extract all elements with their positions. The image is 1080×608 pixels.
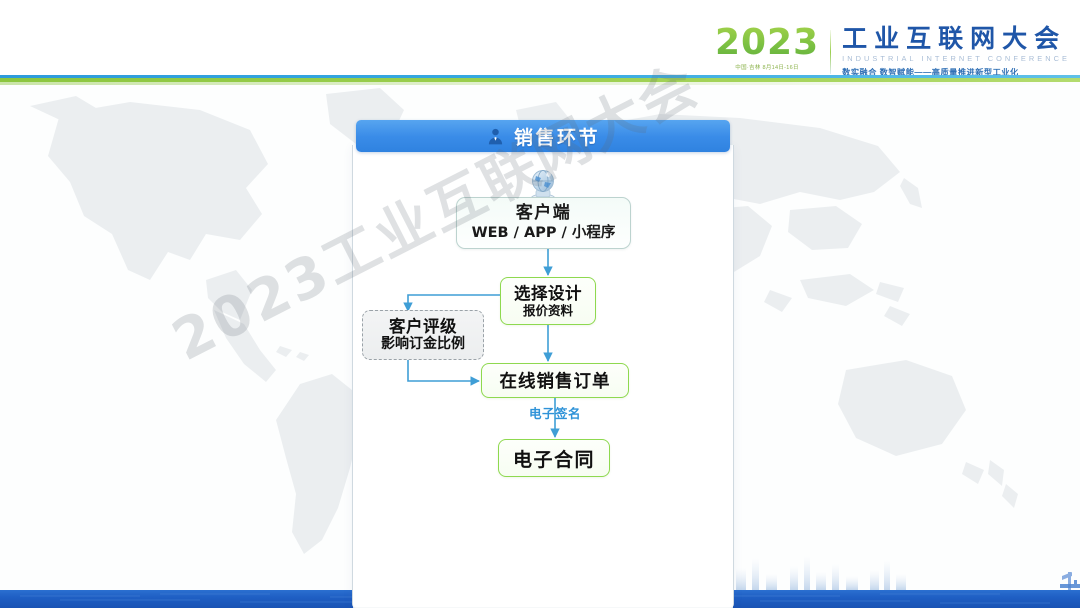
node-electronic-contract[interactable]: 电子合同 [498,439,610,477]
logo-title-block: 工业互联网大会 INDUSTRIAL INTERNET CONFERENCE 数… [831,26,1070,78]
conference-title-en: INDUSTRIAL INTERNET CONFERENCE [842,54,1070,63]
node-online-sales-order[interactable]: 在线销售订单 [481,363,629,398]
node-design-line1: 选择设计 [514,284,582,303]
node-customer-rating[interactable]: 客户评级 影响订金比例 [362,310,484,360]
panel-title-bar: 销售环节 [356,120,730,152]
node-select-design[interactable]: 选择设计 报价资料 [500,277,596,325]
edge-label-signature: 电子签名 [507,403,603,422]
node-rating-line1: 客户评级 [389,317,457,336]
logo-year-block: 2023 中国·吉林 8月14日-16日 [715,26,830,71]
node-order-line1: 在线销售订单 [500,368,611,393]
panel-title-text: 销售环节 [514,123,600,150]
node-client[interactable]: 客户端 WEB / APP / 小程序 [456,197,631,249]
node-client-line2: WEB / APP / 小程序 [472,224,616,242]
conference-title-cn: 工业互联网大会 [842,26,1070,52]
slide-canvas: 2023 中国·吉林 8月14日-16日 工业互联网大会 INDUSTRIAL … [0,0,1080,608]
node-client-line1: 客户端 [516,204,572,223]
conference-logo: 2023 中国·吉林 8月14日-16日 工业互联网大会 INDUSTRIAL … [715,26,1070,78]
person-icon [486,127,505,146]
node-contract-line1: 电子合同 [513,445,595,472]
node-design-line2: 报价资料 [523,303,573,318]
sales-process-diagram: 客户端 WEB / APP / 小程序 选择设计 报价资料 客户评级 影响订金比… [352,145,734,608]
logo-date-location: 中国·吉林 8月14日-16日 [715,63,819,71]
logo-year: 2023 [715,26,819,60]
slide-header: 2023 中国·吉林 8月14日-16日 工业互联网大会 INDUSTRIAL … [0,0,1080,76]
header-rule-fade [0,82,1080,85]
node-rating-line2: 影响订金比例 [381,336,465,353]
